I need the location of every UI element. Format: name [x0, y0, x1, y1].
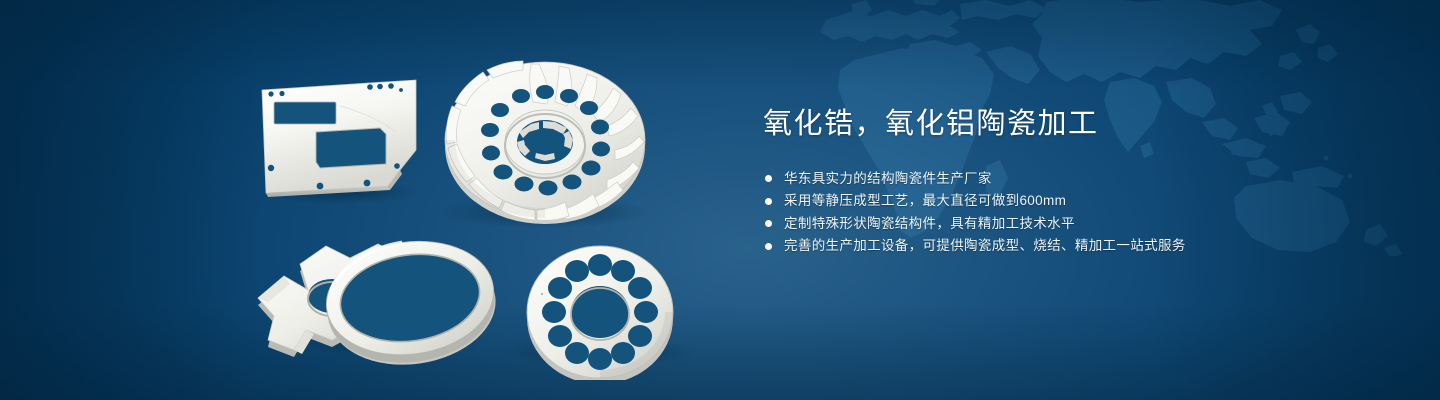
ceramic-perforated-disc [527, 246, 673, 380]
bullet-dot-icon [765, 175, 772, 182]
list-item: 完善的生产加工设备，可提供陶瓷成型、烧结、精加工一站式服务 [763, 235, 1363, 258]
list-item-label: 华东具实力的结构陶瓷件生产厂家 [784, 172, 992, 186]
list-item: 定制特殊形状陶瓷结构件，具有精加工技术水平 [763, 212, 1363, 235]
bullet-dot-icon [765, 198, 772, 205]
feature-list: 华东具实力的结构陶瓷件生产厂家 采用等静压成型工艺，最大直径可做到600mm 定… [763, 167, 1363, 257]
list-item: 采用等静压成型工艺，最大直径可做到600mm [763, 190, 1363, 213]
bullet-dot-icon [765, 220, 772, 227]
ceramic-products-image [240, 40, 710, 380]
page-title: 氧化锆，氧化铝陶瓷加工 [763, 108, 1363, 141]
bullet-dot-icon [765, 243, 772, 250]
hero-banner: 氧化锆，氧化铝陶瓷加工 华东具实力的结构陶瓷件生产厂家 采用等静压成型工艺，最大… [0, 0, 1440, 400]
banner-copy: 氧化锆，氧化铝陶瓷加工 华东具实力的结构陶瓷件生产厂家 采用等静压成型工艺，最大… [763, 108, 1363, 257]
list-item: 华东具实力的结构陶瓷件生产厂家 [763, 167, 1363, 190]
list-item-label: 定制特殊形状陶瓷结构件，具有精加工技术水平 [784, 217, 1075, 231]
ceramic-mounting-plate [262, 80, 416, 197]
ceramic-impeller-rotor [445, 61, 645, 224]
list-item-label: 采用等静压成型工艺，最大直径可做到600mm [784, 194, 1066, 208]
list-item-label: 完善的生产加工设备，可提供陶瓷成型、烧结、精加工一站式服务 [784, 239, 1186, 253]
